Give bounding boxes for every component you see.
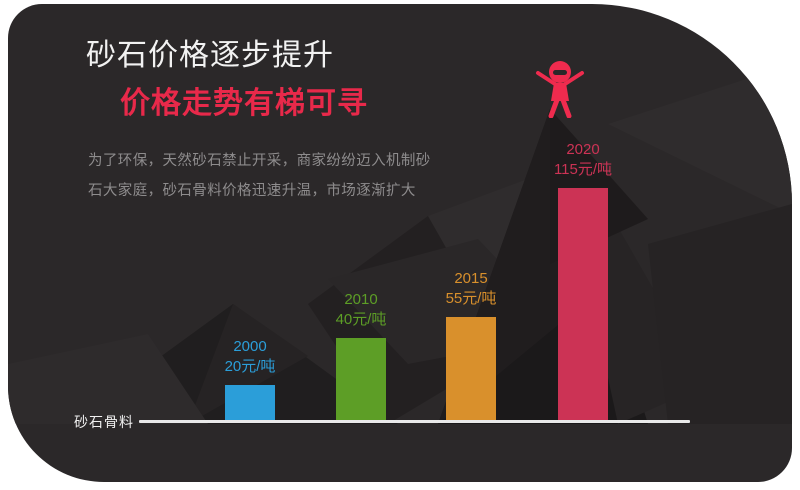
bar-label-2020: 2020115元/吨: [523, 140, 643, 180]
axis-baseline: [139, 420, 690, 423]
bar-2015[interactable]: [446, 317, 496, 420]
bar-2020[interactable]: [558, 188, 608, 420]
axis-category-label: 砂石骨料: [74, 412, 134, 432]
bar-value-2020: 115元/吨: [523, 160, 643, 180]
bar-year-2015: 2015: [411, 269, 531, 289]
bar-value-2000: 20元/吨: [190, 357, 310, 377]
bar-year-2000: 2000: [190, 337, 310, 357]
bar-value-2015: 55元/吨: [411, 289, 531, 309]
bar-2010[interactable]: [336, 338, 386, 420]
bar-year-2020: 2020: [523, 140, 643, 160]
bar-value-2010: 40元/吨: [301, 310, 421, 330]
bar-label-2000: 200020元/吨: [190, 337, 310, 377]
bar-chart: 200020元/吨201040元/吨201555元/吨2020115元/吨 砂石…: [8, 4, 792, 482]
bar-year-2010: 2010: [301, 290, 421, 310]
bar-label-2010: 201040元/吨: [301, 290, 421, 330]
bar-label-2015: 201555元/吨: [411, 269, 531, 309]
person-on-peak-icon: [532, 56, 588, 118]
bar-2000[interactable]: [225, 385, 275, 420]
infographic-slide: 砂石价格逐步提升 价格走势有梯可寻 为了环保，天然砂石禁止开采，商家纷纷迈入机制…: [0, 0, 800, 490]
dark-card-panel: 砂石价格逐步提升 价格走势有梯可寻 为了环保，天然砂石禁止开采，商家纷纷迈入机制…: [8, 4, 792, 482]
